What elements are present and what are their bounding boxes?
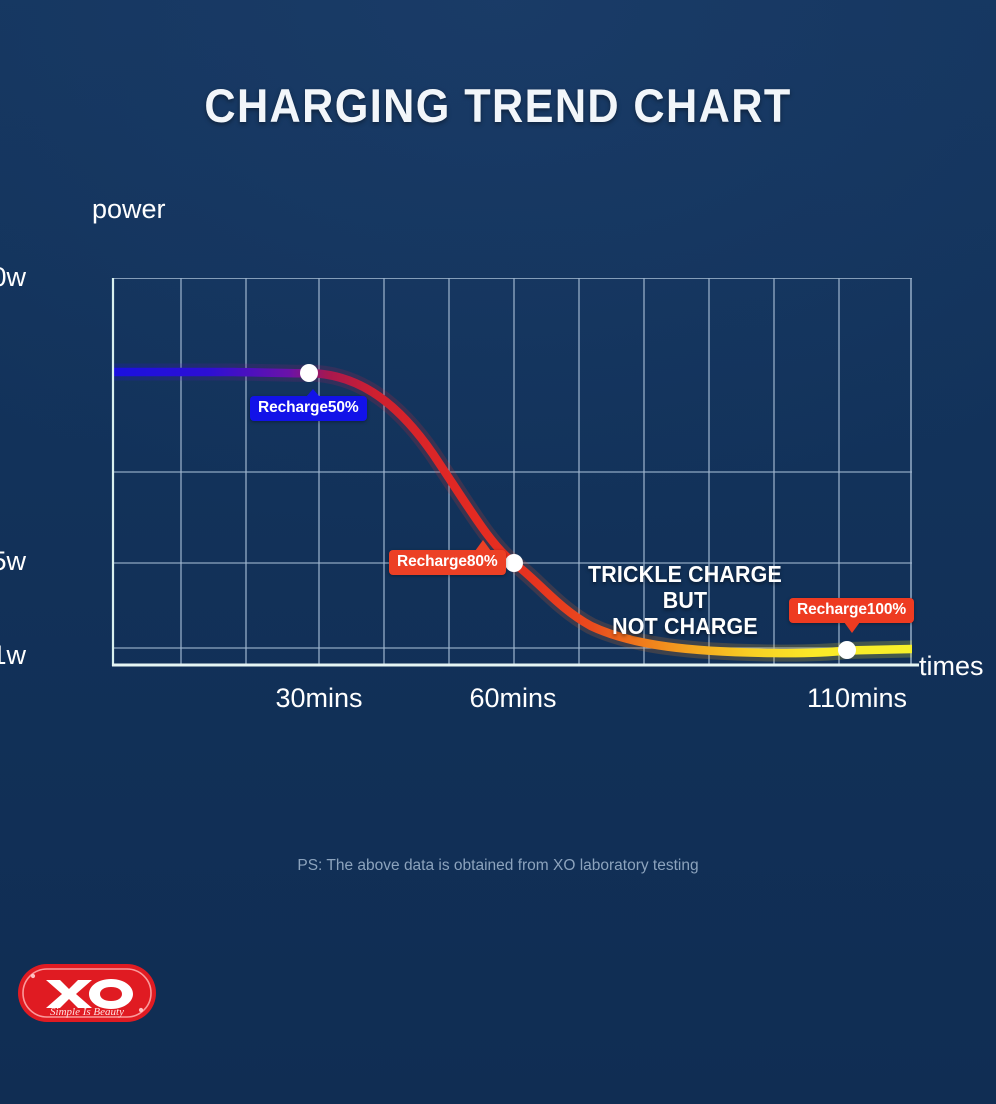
xo-tagline: Simple Is Beauty <box>50 1006 124 1018</box>
badge-recharge-100[interactable]: Recharge100% <box>789 598 914 623</box>
trickle-line-2: NOT CHARGE <box>587 613 782 639</box>
trickle-charge-annotation: TRICKLE CHARGE BUT NOT CHARGE <box>587 561 782 639</box>
footnote: PS: The above data is obtained from XO l… <box>0 857 996 875</box>
xo-logo: Simple Is Beauty <box>16 962 158 1024</box>
trickle-line-1: TRICKLE CHARGE BUT <box>587 561 782 613</box>
badge-recharge-50[interactable]: Recharge50% <box>250 396 367 421</box>
badge-recharge-80[interactable]: Recharge80% <box>389 550 506 575</box>
